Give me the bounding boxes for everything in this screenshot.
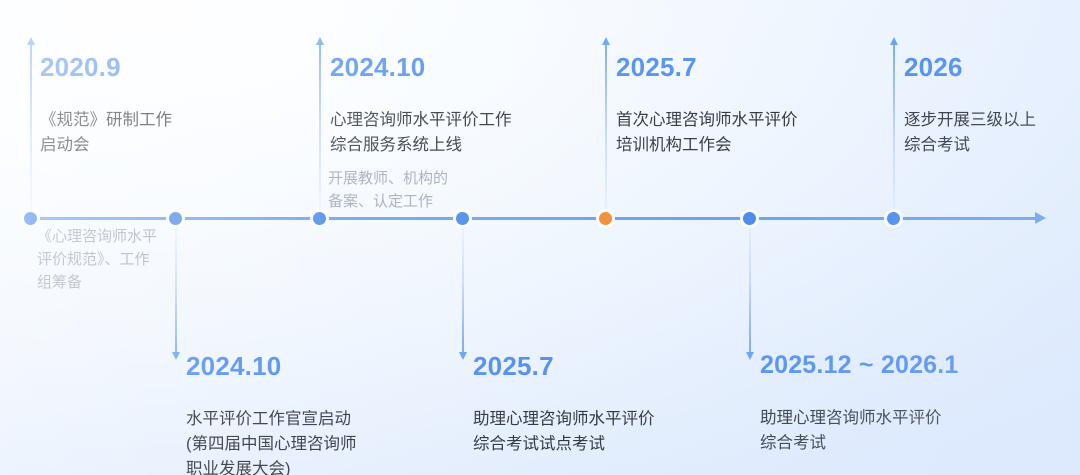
timeline-node-6[interactable]	[743, 212, 756, 225]
connector-up-arrow-icon	[316, 37, 324, 45]
event-below-2024-10: 2024.10 水平评价工作官宣启动 (第四届中国心理咨询师 职业发展大会)	[186, 334, 451, 475]
connector-up-2026	[893, 44, 895, 218]
event-description: 《规范》研制工作 启动会	[40, 108, 290, 158]
note-start: 《心理咨询师水平 评价规范》、工作 组筹备	[37, 226, 187, 294]
connector-up-arrow-icon	[602, 37, 610, 45]
event-description: 逐步开展三级以上 综合考试	[904, 108, 1079, 158]
connector-up-2020-9	[30, 44, 32, 218]
connector-up-arrow-icon	[27, 37, 35, 45]
timeline-infographic: 2020.9 《规范》研制工作 启动会 2024.10 心理咨询师水平评价工作 …	[0, 0, 1080, 475]
timeline-axis-arrow-icon	[1035, 212, 1046, 224]
event-above-2020-9: 2020.9 《规范》研制工作 启动会	[40, 35, 290, 176]
event-above-2025-7: 2025.7 首次心理咨询师水平评价 培训机构工作会	[616, 35, 878, 176]
connector-up-arrow-icon	[890, 37, 898, 45]
event-year: 2026	[904, 53, 1079, 81]
connector-down-arrow-icon	[459, 352, 467, 360]
timeline-node-5-current[interactable]	[599, 212, 612, 225]
note-mid: 开展教师、机构的 备案、认定工作	[328, 168, 498, 214]
event-year: 2025.7	[473, 352, 738, 380]
timeline-node-1[interactable]	[24, 212, 37, 225]
event-description: 心理咨询师水平评价工作 综合服务系统上线	[330, 108, 592, 158]
connector-up-2024-10	[319, 44, 321, 218]
event-below-2025-12: 2025.12 ~ 2026.1 助理心理咨询师水平评价 综合考试	[760, 334, 1050, 474]
event-above-2024-10: 2024.10 心理咨询师水平评价工作 综合服务系统上线	[330, 35, 592, 176]
connector-down-2025-7	[462, 219, 464, 352]
event-description: 首次心理咨询师水平评价 培训机构工作会	[616, 108, 878, 158]
event-year: 2025.12 ~ 2026.1	[760, 352, 1050, 379]
connector-up-2025-7	[605, 44, 607, 218]
connector-down-2025-12	[749, 219, 751, 352]
timeline-node-7[interactable]	[887, 212, 900, 225]
timeline-node-4[interactable]	[456, 212, 469, 225]
event-description: 助理心理咨询师水平评价 综合考试试点考试	[473, 407, 738, 457]
event-above-2026: 2026 逐步开展三级以上 综合考试	[904, 35, 1079, 176]
event-below-2025-7: 2025.7 助理心理咨询师水平评价 综合考试试点考试	[473, 334, 738, 475]
event-description: 助理心理咨询师水平评价 综合考试	[760, 406, 1050, 456]
event-year: 2024.10	[186, 352, 451, 380]
connector-down-arrow-icon	[746, 352, 754, 360]
event-year: 2025.7	[616, 53, 878, 81]
event-year: 2024.10	[330, 53, 592, 81]
event-description: 水平评价工作官宣启动 (第四届中国心理咨询师 职业发展大会)	[186, 407, 451, 475]
connector-down-arrow-icon	[172, 352, 180, 360]
timeline-node-3[interactable]	[313, 212, 326, 225]
event-year: 2020.9	[40, 53, 290, 81]
timeline-node-2[interactable]	[169, 212, 182, 225]
